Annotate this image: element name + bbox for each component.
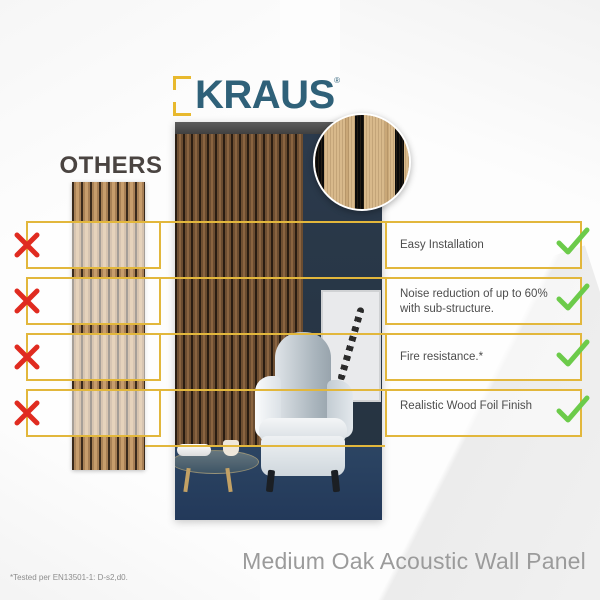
check-mark-icon <box>556 283 590 313</box>
x-mark-icon <box>14 344 40 370</box>
others-row-2 <box>26 277 161 325</box>
material-closeup-inset <box>313 113 411 211</box>
others-row-4 <box>26 389 161 437</box>
x-mark-icon <box>14 232 40 258</box>
feature-label: Fire resistance.* <box>400 350 550 365</box>
x-mark-icon <box>14 400 40 426</box>
connector-line-5 <box>145 445 385 447</box>
connector-line-1 <box>145 221 385 223</box>
feature-label: Realistic Wood Foil Finish <box>400 399 550 414</box>
logo-bracket-icon <box>173 76 195 116</box>
product-caption: Medium Oak Acoustic Wall Panel <box>0 548 586 575</box>
connector-line-3 <box>145 333 385 335</box>
brand-logo: KRAUS ® <box>173 72 338 120</box>
check-mark-icon <box>556 339 590 369</box>
others-label: OTHERS <box>56 152 166 180</box>
x-mark-icon <box>14 288 40 314</box>
footnote-text: *Tested per EN13501-1: D-s2,d0. <box>10 573 128 582</box>
connector-line-4 <box>145 389 385 391</box>
feature-label: Easy Installation <box>400 238 550 253</box>
brand-name: KRAUS <box>195 71 335 119</box>
trademark-symbol: ® <box>334 76 340 85</box>
connector-line-2 <box>145 277 385 279</box>
photo-armchair <box>253 332 353 492</box>
others-row-3 <box>26 333 161 381</box>
check-mark-icon <box>556 227 590 257</box>
feature-label: Noise reduction of up to 60% with sub-st… <box>400 287 550 317</box>
infographic-root: KRAUS ® OTHERS <box>0 0 600 600</box>
check-mark-icon <box>556 395 590 425</box>
others-row-1 <box>26 221 161 269</box>
